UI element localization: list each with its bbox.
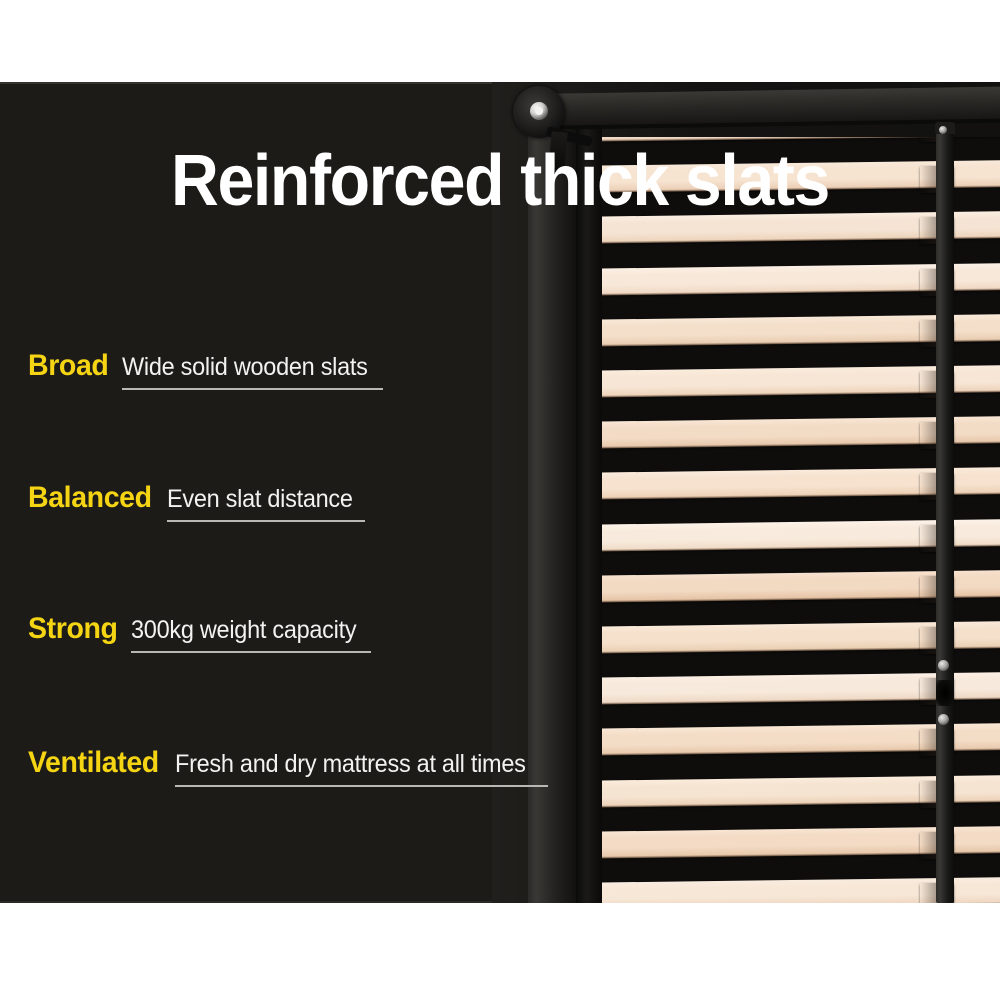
feature-description: Fresh and dry mattress at all times <box>175 751 526 778</box>
feature-description: 300kg weight capacity <box>131 617 356 644</box>
feature-description-wrap: 300kg weight capacity <box>131 617 371 644</box>
feature-label: Balanced <box>28 482 152 514</box>
slat-field <box>564 137 1000 903</box>
page-title: Reinforced thick slats <box>40 144 960 218</box>
center-support-bar <box>936 128 954 903</box>
feature-row: Balanced Even slat distance <box>28 482 365 514</box>
feature-description-wrap: Even slat distance <box>167 486 365 513</box>
center-bar-notch <box>936 680 954 706</box>
feature-underline <box>131 651 371 653</box>
feature-row: Broad Wide solid wooden slats <box>28 350 383 382</box>
feature-description: Even slat distance <box>167 486 353 513</box>
center-bar-screw-lower <box>938 714 949 725</box>
feature-row: Ventilated Fresh and dry mattress at all… <box>28 747 548 779</box>
feature-description: Wide solid wooden slats <box>122 354 368 381</box>
feature-label: Broad <box>28 350 108 382</box>
feature-underline <box>167 520 365 522</box>
feature-underline <box>175 785 548 787</box>
center-bar-screw-top <box>939 126 947 134</box>
feature-label: Ventilated <box>28 747 159 779</box>
center-bar-screw-upper <box>938 660 949 671</box>
feature-description-wrap: Fresh and dry mattress at all times <box>175 751 548 778</box>
feature-description-wrap: Wide solid wooden slats <box>122 354 383 381</box>
dark-content-panel: Reinforced thick slats Broad Wide solid … <box>0 82 1000 903</box>
corner-bolt-core <box>535 107 543 115</box>
product-feature-banner: Reinforced thick slats Broad Wide solid … <box>0 0 1000 1000</box>
feature-label: Strong <box>28 613 118 645</box>
feature-underline <box>122 388 383 390</box>
feature-row: Strong 300kg weight capacity <box>28 613 371 645</box>
bed-side-post <box>576 126 602 903</box>
